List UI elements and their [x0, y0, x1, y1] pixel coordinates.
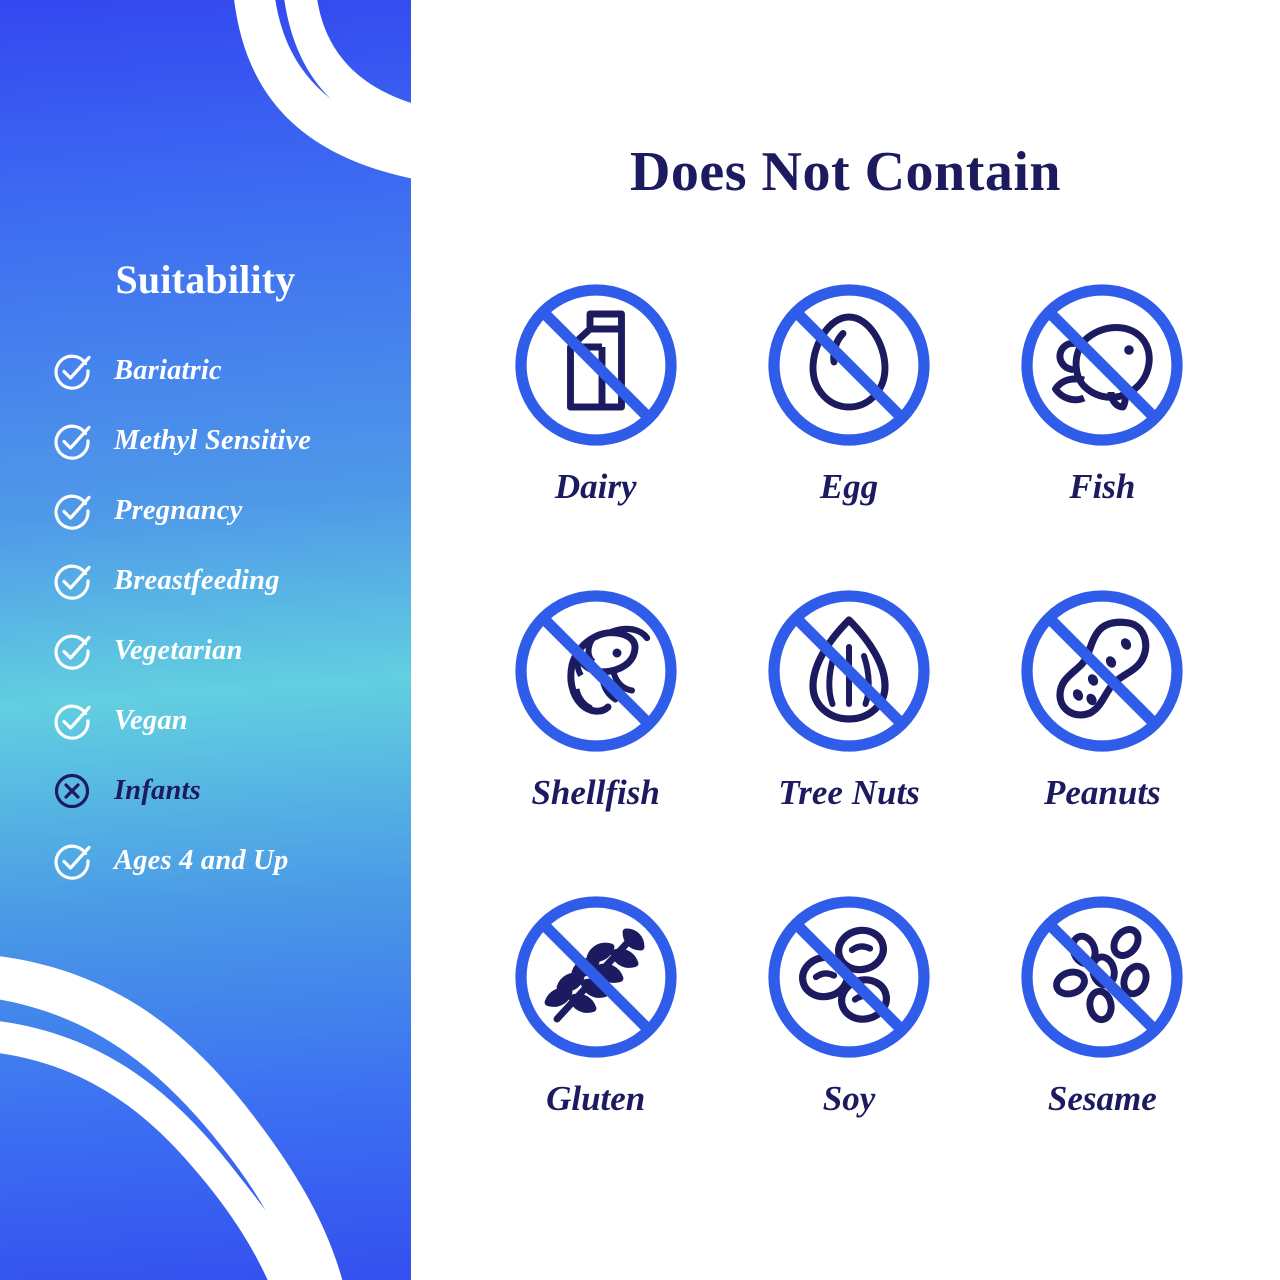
- suitability-item-infants: Infants: [52, 756, 411, 826]
- suitability-item-label: Ages 4 and Up: [114, 845, 288, 877]
- section-title: Does Not Contain: [411, 140, 1280, 204]
- check-circle-icon: [52, 631, 92, 671]
- allergen-item-dairy: Dairy: [469, 275, 722, 581]
- allergen-label: Egg: [820, 467, 878, 507]
- no-fish-icon: [1012, 275, 1192, 455]
- x-circle-icon: [52, 771, 92, 811]
- check-circle-icon: [52, 701, 92, 741]
- suitability-item-methyl-sensitive: Methyl Sensitive: [52, 406, 411, 476]
- check-circle-icon: [52, 561, 92, 601]
- check-circle-icon: [52, 421, 92, 461]
- no-tree-nuts-icon: [759, 581, 939, 761]
- allergen-item-egg: Egg: [722, 275, 975, 581]
- allergen-label: Fish: [1069, 467, 1135, 507]
- allergen-label: Dairy: [555, 467, 637, 507]
- allergen-label: Soy: [823, 1079, 876, 1119]
- no-dairy-icon: [506, 275, 686, 455]
- suitability-item-label: Vegan: [114, 705, 188, 737]
- allergen-label: Gluten: [546, 1079, 645, 1119]
- suitability-item-breastfeeding: Breastfeeding: [52, 546, 411, 616]
- allergen-item-peanuts: Peanuts: [976, 581, 1229, 887]
- allergen-label: Shellfish: [531, 773, 659, 813]
- no-sesame-icon: [1012, 887, 1192, 1067]
- suitability-item-bariatric: Bariatric: [52, 336, 411, 406]
- allergen-label: Peanuts: [1044, 773, 1161, 813]
- check-circle-icon: [52, 351, 92, 391]
- suitability-panel: Suitability Bariatric Methyl Sensitive: [0, 0, 411, 1280]
- suitability-item-vegan: Vegan: [52, 686, 411, 756]
- suitability-item-label: Infants: [114, 775, 201, 807]
- shrimp-eye: [612, 649, 621, 658]
- check-circle-icon: [52, 491, 92, 531]
- suitability-item-vegetarian: Vegetarian: [52, 616, 411, 686]
- fish-eye: [1125, 345, 1135, 355]
- shrimp-glyph: [570, 629, 647, 711]
- suitability-item-label: Methyl Sensitive: [114, 425, 311, 457]
- allergen-item-sesame: Sesame: [976, 887, 1229, 1193]
- no-gluten-icon: [506, 887, 686, 1067]
- suitability-item-label: Breastfeeding: [114, 565, 280, 597]
- check-circle-icon: [52, 841, 92, 881]
- no-soy-icon: [759, 887, 939, 1067]
- suitability-item-label: Bariatric: [114, 355, 222, 387]
- allergen-item-fish: Fish: [976, 275, 1229, 581]
- suitability-item-label: Pregnancy: [114, 495, 242, 527]
- allergen-label: Sesame: [1048, 1079, 1157, 1119]
- suitability-item-label: Vegetarian: [114, 635, 243, 667]
- infographic-page: Suitability Bariatric Methyl Sensitive: [0, 0, 1280, 1280]
- does-not-contain-section: Does Not Contain Dairy: [411, 0, 1280, 1280]
- suitability-item-pregnancy: Pregnancy: [52, 476, 411, 546]
- no-shellfish-icon: [506, 581, 686, 761]
- suitability-item-ages-4-and-up: Ages 4 and Up: [52, 826, 411, 896]
- no-egg-icon: [759, 275, 939, 455]
- allergen-label: Tree Nuts: [778, 773, 920, 813]
- allergen-grid: Dairy Egg: [469, 275, 1229, 1193]
- no-peanuts-icon: [1012, 581, 1192, 761]
- allergen-item-tree-nuts: Tree Nuts: [722, 581, 975, 887]
- allergen-item-gluten: Gluten: [469, 887, 722, 1193]
- allergen-item-shellfish: Shellfish: [469, 581, 722, 887]
- suitability-list: Bariatric Methyl Sensitive Pregnancy: [52, 336, 411, 896]
- allergen-item-soy: Soy: [722, 887, 975, 1193]
- panel-title: Suitability: [0, 256, 411, 303]
